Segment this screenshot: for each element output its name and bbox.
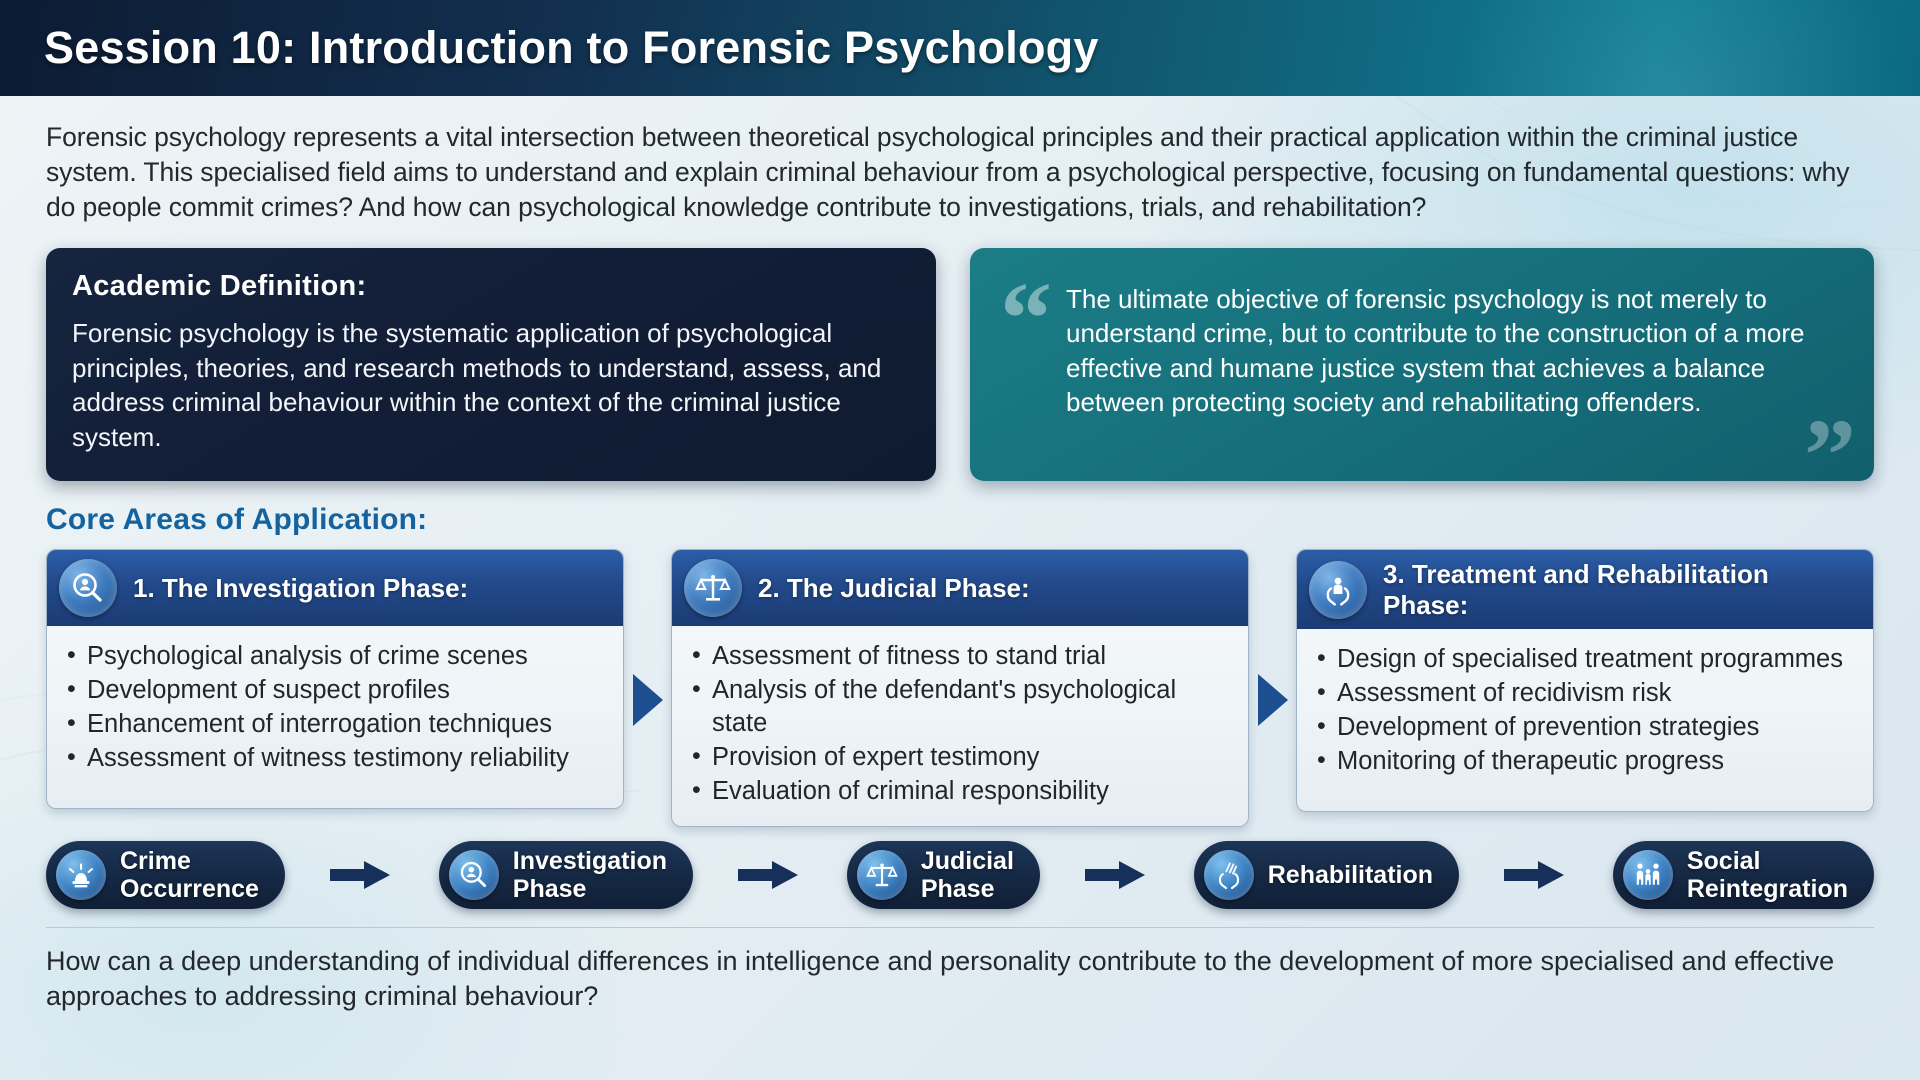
flow-step-rehabilitation[interactable]: Rehabilitation	[1194, 841, 1459, 909]
phase-card-investigation[interactable]: 1. The Investigation Phase: Psychologica…	[46, 549, 624, 809]
core-areas-cards: 1. The Investigation Phase: Psychologica…	[46, 549, 1874, 827]
scales-of-justice-icon	[857, 850, 907, 900]
list-item: Design of specialised treatment programm…	[1315, 643, 1857, 676]
phase-card-body: Design of specialised treatment programm…	[1297, 629, 1873, 811]
page-title: Session 10: Introduction to Forensic Psy…	[44, 22, 1099, 74]
siren-icon	[56, 850, 106, 900]
phase-arrow-2	[1249, 549, 1296, 726]
phase-card-body: Assessment of fitness to stand trial Ana…	[672, 626, 1248, 826]
list-item: Development of suspect profiles	[65, 674, 607, 707]
phase-arrow-1	[624, 549, 671, 726]
arrow-right-icon	[1258, 674, 1288, 726]
list-item: Psychological analysis of crime scenes	[65, 640, 607, 673]
phase-card-title: 3. Treatment and Rehabilitation Phase:	[1383, 559, 1859, 620]
quote-text: The ultimate objective of forensic psych…	[1066, 270, 1848, 457]
scales-of-justice-icon	[684, 559, 742, 617]
phase-bullet-list: Design of specialised treatment programm…	[1315, 643, 1857, 778]
person-in-hands-icon	[1309, 561, 1367, 619]
flow-step-label: Rehabilitation	[1268, 861, 1433, 889]
flow-arrow-1	[285, 858, 439, 892]
arrow-right-icon	[738, 858, 802, 892]
list-item: Assessment of fitness to stand trial	[690, 640, 1232, 673]
flow-step-judicial[interactable]: Judicial Phase	[847, 841, 1040, 909]
phase-bullet-list: Assessment of fitness to stand trial Ana…	[690, 640, 1232, 807]
arrow-right-icon	[1504, 858, 1568, 892]
academic-definition-title: Academic Definition:	[72, 270, 910, 303]
open-quote-icon: “	[1000, 282, 1052, 352]
definition-and-quote-row: Academic Definition: Forensic psychology…	[46, 248, 1874, 481]
flow-step-social-reintegration[interactable]: Social Reintegration	[1613, 841, 1874, 909]
arrow-right-icon	[1085, 858, 1149, 892]
process-flow: Crime Occurrence Investigation Phase	[46, 841, 1874, 909]
footer-question: How can a deep understanding of individu…	[46, 944, 1886, 1013]
flow-arrow-3	[1040, 858, 1194, 892]
healing-hands-icon	[1204, 850, 1254, 900]
list-item: Analysis of the defendant's psychologica…	[690, 674, 1232, 740]
arrow-right-icon	[330, 858, 394, 892]
list-item: Provision of expert testimony	[690, 741, 1232, 774]
intro-paragraph: Forensic psychology represents a vital i…	[46, 120, 1881, 226]
phase-card-header: 1. The Investigation Phase:	[47, 550, 623, 626]
magnifier-person-icon	[59, 559, 117, 617]
phase-card-title: 1. The Investigation Phase:	[133, 573, 468, 604]
phase-card-body: Psychological analysis of crime scenes D…	[47, 626, 623, 808]
academic-definition-card: Academic Definition: Forensic psychology…	[46, 248, 936, 481]
list-item: Monitoring of therapeutic progress	[1315, 745, 1857, 778]
phase-bullet-list: Psychological analysis of crime scenes D…	[65, 640, 607, 775]
phase-card-judicial[interactable]: 2. The Judicial Phase: Assessment of fit…	[671, 549, 1249, 827]
footer-divider	[46, 927, 1874, 928]
list-item: Assessment of witness testimony reliabil…	[65, 742, 607, 775]
flow-step-label: Crime Occurrence	[120, 847, 259, 903]
flow-step-label: Social Reintegration	[1687, 847, 1848, 903]
quote-card: “ The ultimate objective of forensic psy…	[970, 248, 1874, 481]
flow-arrow-4	[1459, 858, 1613, 892]
arrow-right-icon	[633, 674, 663, 726]
list-item: Enhancement of interrogation techniques	[65, 708, 607, 741]
flow-step-label: Investigation Phase	[513, 847, 667, 903]
page-header: Session 10: Introduction to Forensic Psy…	[0, 0, 1920, 96]
core-areas-title: Core Areas of Application:	[46, 503, 1874, 537]
family-group-icon	[1623, 850, 1673, 900]
list-item: Assessment of recidivism risk	[1315, 677, 1857, 710]
flow-step-investigation[interactable]: Investigation Phase	[439, 841, 693, 909]
academic-definition-body: Forensic psychology is the systematic ap…	[72, 316, 910, 455]
phase-card-treatment[interactable]: 3. Treatment and Rehabilitation Phase: D…	[1296, 549, 1874, 812]
magnifier-person-icon	[449, 850, 499, 900]
phase-card-title: 2. The Judicial Phase:	[758, 573, 1030, 604]
flow-step-crime-occurrence[interactable]: Crime Occurrence	[46, 841, 285, 909]
flow-step-label: Judicial Phase	[921, 847, 1014, 903]
flow-arrow-2	[693, 858, 847, 892]
list-item: Development of prevention strategies	[1315, 711, 1857, 744]
list-item: Evaluation of criminal responsibility	[690, 775, 1232, 808]
phase-card-header: 3. Treatment and Rehabilitation Phase:	[1297, 550, 1873, 629]
phase-card-header: 2. The Judicial Phase:	[672, 550, 1248, 626]
page-stage: Forensic psychology represents a vital i…	[0, 120, 1920, 1014]
